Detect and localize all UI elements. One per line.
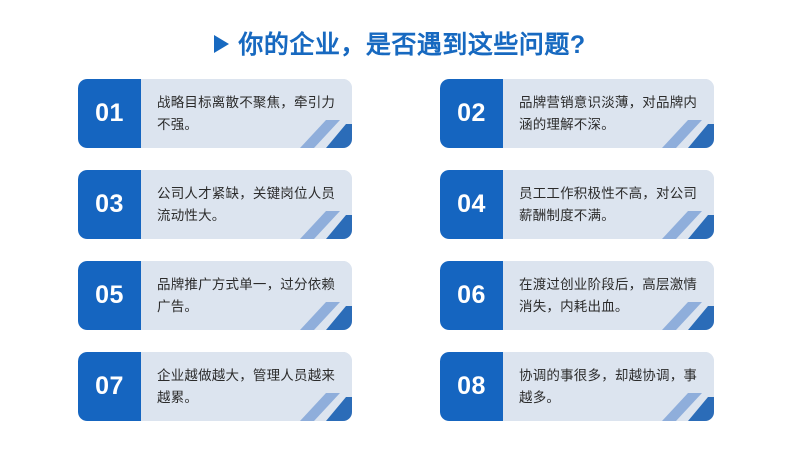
card-number-badge: 08	[440, 352, 503, 421]
card-number-badge: 05	[78, 261, 141, 330]
card-number-badge: 03	[78, 170, 141, 239]
card-text: 企业越做越大，管理人员越来越累。	[157, 365, 338, 408]
card-text: 品牌推广方式单一，过分依赖广告。	[157, 274, 338, 317]
card-body: 企业越做越大，管理人员越来越累。	[141, 352, 352, 421]
arrow-right-icon	[214, 35, 229, 53]
card-body: 员工工作积极性不高，对公司薪酬制度不满。	[503, 170, 714, 239]
card-text: 品牌营销意识淡薄，对品牌内涵的理解不深。	[519, 92, 700, 135]
page-title-text: 你的企业，是否遇到这些问题?	[238, 25, 585, 61]
card-text: 协调的事很多，却越协调，事越多。	[519, 365, 700, 408]
card-body: 战略目标离散不聚焦，牵引力不强。	[141, 79, 352, 148]
problem-card[interactable]: 05 品牌推广方式单一，过分依赖广告。	[78, 261, 352, 330]
card-number-badge: 04	[440, 170, 503, 239]
card-number-badge: 06	[440, 261, 503, 330]
card-body: 在渡过创业阶段后，高层激情消失，内耗出血。	[503, 261, 714, 330]
problem-card[interactable]: 08 协调的事很多，却越协调，事越多。	[440, 352, 714, 421]
page-title: 你的企业，是否遇到这些问题?	[0, 20, 800, 66]
card-body: 品牌推广方式单一，过分依赖广告。	[141, 261, 352, 330]
card-text: 公司人才紧缺，关键岗位人员流动性大。	[157, 183, 338, 226]
problem-cards-grid: 01 战略目标离散不聚焦，牵引力不强。 02 品牌营销意识淡薄，对品牌内涵的理解…	[78, 79, 714, 423]
card-body: 协调的事很多，却越协调，事越多。	[503, 352, 714, 421]
card-text: 员工工作积极性不高，对公司薪酬制度不满。	[519, 183, 700, 226]
card-number-badge: 07	[78, 352, 141, 421]
card-body: 品牌营销意识淡薄，对品牌内涵的理解不深。	[503, 79, 714, 148]
card-number-badge: 02	[440, 79, 503, 148]
card-text: 在渡过创业阶段后，高层激情消失，内耗出血。	[519, 274, 700, 317]
card-body: 公司人才紧缺，关键岗位人员流动性大。	[141, 170, 352, 239]
problem-card[interactable]: 02 品牌营销意识淡薄，对品牌内涵的理解不深。	[440, 79, 714, 148]
problem-card[interactable]: 03 公司人才紧缺，关键岗位人员流动性大。	[78, 170, 352, 239]
problem-card[interactable]: 07 企业越做越大，管理人员越来越累。	[78, 352, 352, 421]
problem-card[interactable]: 06 在渡过创业阶段后，高层激情消失，内耗出血。	[440, 261, 714, 330]
problem-card[interactable]: 01 战略目标离散不聚焦，牵引力不强。	[78, 79, 352, 148]
card-text: 战略目标离散不聚焦，牵引力不强。	[157, 92, 338, 135]
card-number-badge: 01	[78, 79, 141, 148]
problem-card[interactable]: 04 员工工作积极性不高，对公司薪酬制度不满。	[440, 170, 714, 239]
